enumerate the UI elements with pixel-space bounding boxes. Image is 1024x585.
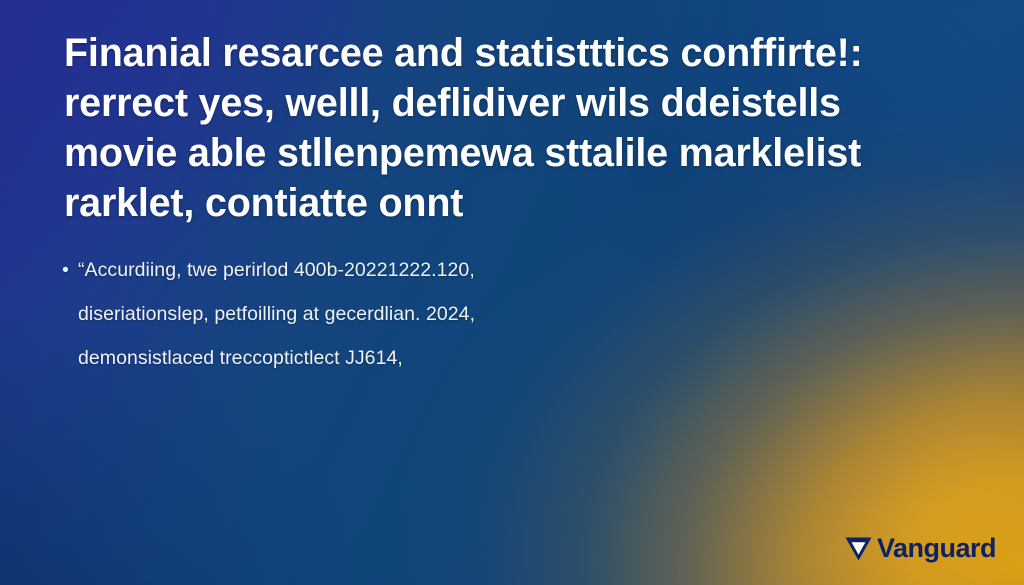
bullet-line-1: “Accurdiing, twe perirlod 400b-20221222.… (78, 259, 475, 281)
headline-line-4: rarklet, contiatte onnt (64, 178, 920, 228)
headline-line-3: movie able stllenpemewa sttalile marklel… (64, 128, 920, 178)
vanguard-logo: Vanguard (845, 535, 996, 563)
bullet-point-icon: • (62, 248, 78, 292)
slide-body-bullet-list: •“Accurdiing, twe perirlod 400b-20221222… (62, 248, 702, 380)
bullet-line-3: demonsistlaced treccoptictlect JJ614, (78, 347, 403, 369)
headline-line-1: Finanial resarcee and statistttics conff… (64, 28, 920, 78)
bullet-list-item: •“Accurdiing, twe perirlod 400b-20221222… (62, 248, 702, 292)
presentation-slide: Finanial resarcee and statistttics conff… (0, 0, 1024, 585)
bullet-line-2: diseriationslep, petfoilling at gecerdli… (78, 303, 475, 325)
vanguard-wordmark: Vanguard (877, 535, 996, 563)
slide-content: Finanial resarcee and statistttics conff… (0, 0, 1024, 585)
headline-line-2: rerrect yes, welll, deflidiver wils ddei… (64, 78, 920, 128)
slide-headline: Finanial resarcee and statistttics conff… (64, 28, 920, 228)
vanguard-v-icon (845, 537, 872, 561)
bullet-continuation-line: demonsistlaced treccoptictlect JJ614, (62, 336, 702, 380)
bullet-continuation-line: diseriationslep, petfoilling at gecerdli… (62, 292, 702, 336)
